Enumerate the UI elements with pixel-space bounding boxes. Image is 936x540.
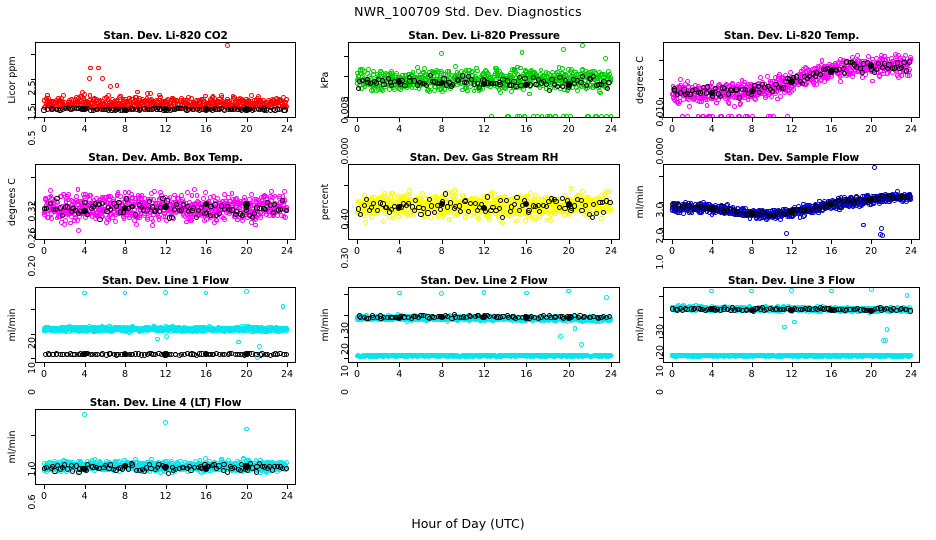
data-point xyxy=(358,199,363,204)
data-point xyxy=(362,213,367,218)
data-point xyxy=(907,194,912,199)
y-tick-label: 1.5 xyxy=(28,96,38,130)
data-point xyxy=(367,74,372,79)
data-point xyxy=(278,98,283,103)
data-point xyxy=(822,203,827,208)
data-point xyxy=(607,189,612,194)
data-point xyxy=(411,207,416,212)
data-point xyxy=(832,67,837,72)
data-point xyxy=(84,200,89,205)
data-point xyxy=(870,196,875,201)
data-point xyxy=(214,208,219,213)
data-point xyxy=(68,212,73,217)
data-point xyxy=(500,85,505,90)
data-point xyxy=(479,206,484,211)
data-point xyxy=(859,202,864,207)
data-point xyxy=(222,207,227,212)
data-point xyxy=(120,211,125,216)
data-point xyxy=(198,101,203,106)
data-point xyxy=(882,63,887,68)
data-point xyxy=(676,101,681,106)
data-point xyxy=(405,77,410,82)
data-point xyxy=(432,70,437,75)
data-point xyxy=(468,77,473,82)
data-point xyxy=(215,211,220,216)
data-point xyxy=(589,211,594,216)
data-point xyxy=(730,210,735,215)
data-point xyxy=(531,75,536,80)
data-point xyxy=(721,92,726,97)
data-point xyxy=(167,203,172,208)
data-point xyxy=(193,202,198,207)
data-point xyxy=(227,209,232,214)
data-point xyxy=(369,80,374,85)
data-point xyxy=(503,86,508,91)
data-point xyxy=(241,105,246,110)
data-point xyxy=(717,82,722,87)
data-point xyxy=(376,74,381,79)
data-point xyxy=(178,106,183,111)
data-point xyxy=(889,64,894,69)
data-point xyxy=(807,71,812,76)
data-point xyxy=(523,114,528,118)
data-point xyxy=(802,213,807,218)
data-point xyxy=(210,205,215,210)
data-point xyxy=(69,206,74,211)
data-point xyxy=(520,210,525,215)
data-point xyxy=(111,107,116,112)
data-point xyxy=(390,205,395,210)
data-point xyxy=(829,202,834,207)
data-point xyxy=(521,79,526,84)
data-point xyxy=(373,202,378,207)
data-point xyxy=(407,188,412,193)
data-point xyxy=(528,71,533,76)
data-point xyxy=(581,81,586,86)
data-point xyxy=(280,198,285,203)
plot-area xyxy=(663,42,920,118)
data-point xyxy=(260,201,265,206)
data-point xyxy=(155,212,160,217)
data-point xyxy=(673,92,678,97)
data-point xyxy=(122,216,127,221)
data-point xyxy=(410,207,415,212)
data-point xyxy=(371,208,376,213)
data-point xyxy=(246,98,251,103)
data-point xyxy=(140,201,145,206)
data-point xyxy=(184,105,189,110)
data-point xyxy=(215,205,220,210)
data-point xyxy=(569,67,574,72)
data-point xyxy=(541,202,546,207)
data-point xyxy=(238,107,243,112)
data-point xyxy=(740,213,745,218)
data-point xyxy=(692,205,697,210)
data-point xyxy=(750,211,755,216)
data-point xyxy=(447,69,452,74)
data-point xyxy=(217,211,222,216)
data-point xyxy=(411,78,416,83)
data-point xyxy=(795,207,800,212)
data-point xyxy=(785,211,790,216)
data-point xyxy=(898,197,903,202)
data-point xyxy=(108,84,113,89)
data-point xyxy=(836,203,841,208)
data-point xyxy=(69,214,74,219)
data-point xyxy=(476,86,481,91)
data-point xyxy=(511,75,516,80)
data-point xyxy=(126,107,131,112)
data-point xyxy=(51,99,56,104)
data-point xyxy=(691,207,696,212)
data-point xyxy=(900,199,905,204)
data-point xyxy=(800,74,805,79)
data-point xyxy=(115,192,120,197)
data-point xyxy=(200,97,205,102)
data-point xyxy=(410,204,415,209)
data-point xyxy=(748,216,753,221)
data-point xyxy=(582,201,587,206)
data-point xyxy=(119,103,124,108)
data-point xyxy=(515,65,520,70)
data-point xyxy=(780,78,785,83)
data-point xyxy=(213,102,218,107)
data-point xyxy=(119,210,124,215)
data-point xyxy=(846,70,851,75)
data-point xyxy=(79,94,84,99)
data-point xyxy=(591,202,596,207)
data-point xyxy=(890,195,895,200)
data-point xyxy=(94,196,99,201)
data-point xyxy=(133,95,138,100)
data-point xyxy=(70,202,75,207)
data-point xyxy=(212,220,217,225)
data-point xyxy=(736,210,741,215)
data-point xyxy=(182,209,187,214)
data-point xyxy=(560,206,565,211)
data-point xyxy=(577,202,582,207)
data-point xyxy=(542,206,547,211)
data-point xyxy=(172,99,177,104)
data-point xyxy=(681,97,686,102)
data-point xyxy=(561,80,566,85)
data-point xyxy=(454,207,459,212)
data-point xyxy=(830,67,835,72)
data-point xyxy=(188,100,193,105)
data-point xyxy=(776,208,781,213)
data-point xyxy=(180,103,185,108)
data-point xyxy=(819,67,824,72)
data-point xyxy=(104,105,109,110)
data-point xyxy=(282,189,287,194)
data-point xyxy=(105,101,110,106)
data-point xyxy=(139,211,144,216)
data-point xyxy=(772,86,777,91)
data-point xyxy=(731,85,736,90)
data-point xyxy=(850,74,855,79)
data-point xyxy=(381,208,386,213)
data-point xyxy=(515,81,520,86)
data-point xyxy=(63,218,68,223)
data-point xyxy=(271,210,276,215)
data-point xyxy=(711,95,716,100)
data-point xyxy=(781,83,786,88)
data-point xyxy=(503,197,508,202)
data-point xyxy=(860,72,865,77)
data-point xyxy=(845,71,850,76)
data-point xyxy=(531,201,536,206)
data-point xyxy=(243,206,248,211)
data-point xyxy=(591,74,596,79)
data-point xyxy=(908,58,913,63)
data-point xyxy=(60,209,65,214)
data-point xyxy=(819,77,824,82)
data-point xyxy=(134,222,139,227)
x-tick-label: 4 xyxy=(73,124,97,135)
data-point xyxy=(455,70,460,75)
data-point xyxy=(371,201,376,206)
data-point xyxy=(273,101,278,106)
data-point xyxy=(367,202,372,207)
data-point xyxy=(776,81,781,86)
data-point xyxy=(49,106,54,111)
data-point xyxy=(385,207,390,212)
data-point xyxy=(878,198,883,203)
data-point xyxy=(99,207,104,212)
data-point xyxy=(523,195,528,200)
data-point xyxy=(760,85,765,90)
data-point xyxy=(705,85,710,90)
data-point xyxy=(186,103,191,108)
data-point xyxy=(396,78,401,83)
data-point xyxy=(259,210,264,215)
data-point xyxy=(881,72,886,77)
data-point xyxy=(754,93,759,98)
data-point xyxy=(488,197,493,202)
data-point xyxy=(166,105,171,110)
data-point xyxy=(603,201,608,206)
data-point xyxy=(876,67,881,72)
data-point xyxy=(578,80,583,85)
data-point xyxy=(745,114,750,118)
data-point xyxy=(886,66,891,71)
data-point xyxy=(122,205,128,211)
data-point xyxy=(189,208,194,213)
data-point xyxy=(758,91,763,96)
data-point xyxy=(829,200,834,205)
data-point xyxy=(276,204,281,209)
data-point xyxy=(91,108,96,113)
data-point xyxy=(755,213,760,218)
data-point xyxy=(450,202,455,207)
data-point xyxy=(768,214,773,219)
data-point xyxy=(895,189,900,194)
data-point xyxy=(408,81,413,86)
data-point xyxy=(798,215,803,220)
data-point xyxy=(142,106,147,111)
data-point xyxy=(686,84,691,89)
data-point xyxy=(555,84,560,89)
data-point xyxy=(256,107,261,112)
x-tick-label: 4 xyxy=(700,124,724,135)
data-point xyxy=(157,93,162,98)
data-point xyxy=(194,203,199,208)
data-point xyxy=(821,205,826,210)
data-point xyxy=(440,202,445,207)
data-point xyxy=(734,92,739,97)
data-point xyxy=(878,193,883,198)
data-point xyxy=(447,206,452,211)
data-point xyxy=(206,102,211,107)
y-tick-label: 0.26 xyxy=(28,221,38,255)
y-tick-mark xyxy=(31,204,35,205)
data-point xyxy=(244,205,249,210)
data-point xyxy=(61,93,66,98)
data-point xyxy=(685,207,690,212)
data-point xyxy=(727,207,732,212)
data-point xyxy=(590,85,595,90)
data-point xyxy=(148,197,153,202)
data-point xyxy=(845,198,850,203)
data-point xyxy=(609,78,614,83)
data-point xyxy=(484,196,489,201)
data-point xyxy=(433,197,438,202)
y-minor-tick-mark xyxy=(344,56,348,57)
data-point xyxy=(427,197,432,202)
data-point xyxy=(724,206,729,211)
data-point xyxy=(886,199,891,204)
data-point xyxy=(528,202,533,207)
y-tick-label: 0.40 xyxy=(341,202,351,236)
data-point xyxy=(564,200,569,205)
data-point xyxy=(473,79,478,84)
data-point xyxy=(548,218,553,223)
data-point xyxy=(72,103,77,108)
data-point xyxy=(44,102,49,107)
data-point xyxy=(770,88,775,93)
data-point xyxy=(589,77,594,82)
data-point xyxy=(157,205,162,210)
data-point xyxy=(719,203,724,208)
data-point xyxy=(683,82,688,87)
data-point xyxy=(438,77,443,82)
data-point xyxy=(99,107,104,112)
data-point xyxy=(51,201,56,206)
data-point xyxy=(201,97,206,102)
data-point xyxy=(65,102,70,107)
y-tick-label: 0.30 xyxy=(341,241,351,275)
data-point xyxy=(365,202,370,207)
data-point xyxy=(252,105,257,110)
data-point xyxy=(234,103,239,108)
data-point xyxy=(412,198,417,203)
data-point xyxy=(524,209,529,214)
data-point xyxy=(742,80,747,85)
data-point xyxy=(514,195,519,200)
data-point xyxy=(579,204,584,209)
data-point xyxy=(133,101,138,106)
data-point xyxy=(60,107,65,112)
data-point xyxy=(66,206,71,211)
data-point xyxy=(134,98,139,103)
data-point xyxy=(214,100,219,105)
data-point xyxy=(102,102,107,107)
data-point xyxy=(419,205,424,210)
data-point xyxy=(804,209,809,214)
data-point xyxy=(594,200,599,205)
data-point xyxy=(45,215,50,220)
data-point xyxy=(153,208,158,213)
data-point xyxy=(575,77,580,82)
data-point xyxy=(376,77,381,82)
data-point xyxy=(402,203,407,208)
data-point xyxy=(198,201,203,206)
data-point xyxy=(599,207,604,212)
data-point xyxy=(757,208,762,213)
data-point xyxy=(162,211,167,216)
data-point xyxy=(594,203,599,208)
data-point xyxy=(889,63,894,68)
data-point xyxy=(698,92,703,97)
data-point xyxy=(770,89,775,94)
data-point xyxy=(104,95,109,100)
data-point xyxy=(366,204,371,209)
data-point xyxy=(908,55,913,60)
data-point xyxy=(872,64,877,69)
data-point xyxy=(453,73,458,78)
data-point xyxy=(362,203,367,208)
data-point xyxy=(437,198,442,203)
data-point xyxy=(767,212,772,217)
y-tick-label: 0.000 xyxy=(341,134,351,168)
data-point xyxy=(490,80,495,85)
data-point xyxy=(756,84,761,89)
data-point xyxy=(91,209,96,214)
data-point xyxy=(167,106,172,111)
data-point xyxy=(169,213,174,218)
data-point xyxy=(244,210,249,215)
data-point xyxy=(838,74,843,79)
data-point xyxy=(735,206,740,211)
data-point xyxy=(708,89,713,94)
data-point xyxy=(204,212,209,217)
data-point xyxy=(420,191,425,196)
data-point xyxy=(396,84,401,89)
data-point xyxy=(392,78,397,83)
data-point xyxy=(793,77,798,82)
data-point xyxy=(164,206,169,211)
data-point xyxy=(738,102,743,107)
data-point xyxy=(115,210,120,215)
data-point xyxy=(233,199,238,204)
data-point xyxy=(374,205,379,210)
data-point xyxy=(762,87,767,92)
data-point xyxy=(557,75,562,80)
data-point xyxy=(414,196,419,201)
data-point xyxy=(131,100,136,105)
data-point xyxy=(184,205,189,210)
data-point xyxy=(489,192,494,197)
data-point xyxy=(501,207,506,212)
data-point xyxy=(68,103,73,108)
data-point xyxy=(73,102,78,107)
data-point xyxy=(783,76,788,81)
data-point xyxy=(233,204,238,209)
data-point xyxy=(269,189,274,194)
data-point xyxy=(825,66,830,71)
data-point xyxy=(890,64,895,69)
data-point xyxy=(559,204,564,209)
